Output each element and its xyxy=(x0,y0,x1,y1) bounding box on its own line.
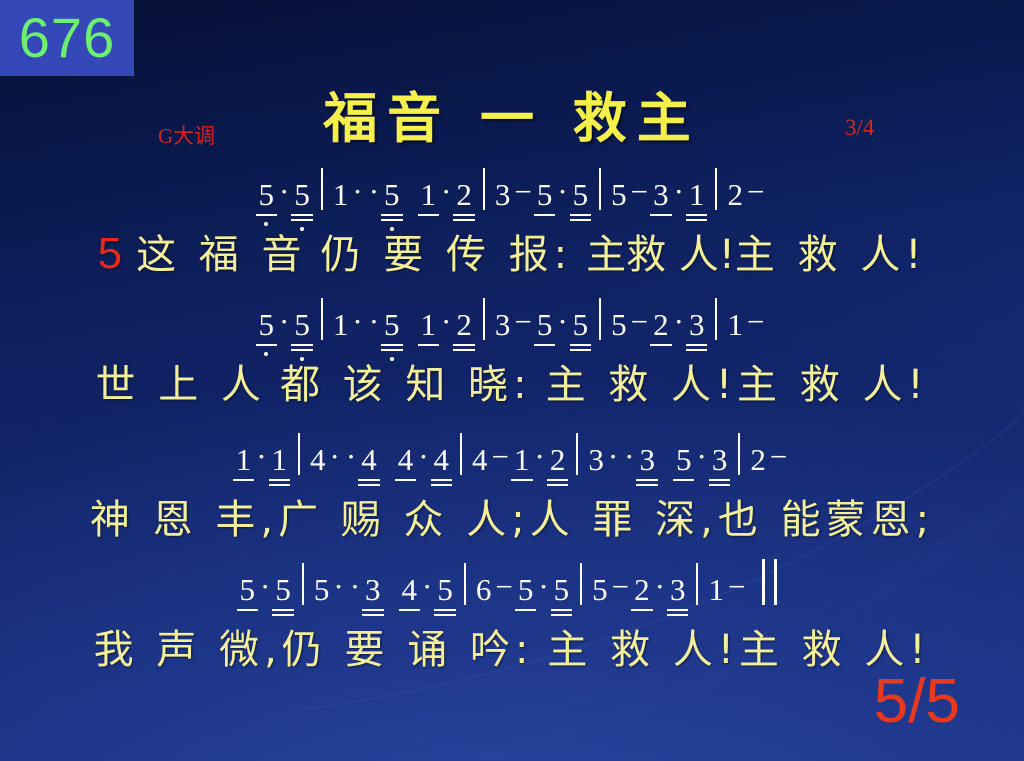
augmentation-dot: · xyxy=(415,439,431,475)
note: 2 xyxy=(651,309,671,340)
sustain-dash: − xyxy=(511,174,534,210)
note: 1 xyxy=(419,179,439,210)
sustain-dash: − xyxy=(492,569,515,605)
stanza-1: 5 · 5 1 · · 5 1 · 2 3 − 5 · 5 5 − 3 · 1 … xyxy=(0,162,1024,280)
note: 2 xyxy=(726,179,744,210)
barline xyxy=(483,298,485,340)
lyrics-line-1: 5 这 福 音 仍 要 传 报: 主救 人! 主 救 人! xyxy=(0,222,1024,280)
time-signature-label: 3/4 xyxy=(845,115,874,141)
note: 3 xyxy=(687,309,707,340)
lyric-segment: 这 福 音 xyxy=(136,222,306,280)
sustain-dash: − xyxy=(628,174,651,210)
barline xyxy=(460,433,462,475)
note: 3 xyxy=(494,179,512,210)
note: 2 xyxy=(548,444,568,475)
note: 1 xyxy=(512,444,532,475)
barline xyxy=(576,433,578,475)
augmentation-dot: · xyxy=(621,439,637,475)
lyric-segment: 仍 要 传 报: xyxy=(321,222,573,280)
note: 1 xyxy=(234,444,254,475)
augmentation-dot: · xyxy=(347,569,363,605)
augmentation-dot: · xyxy=(327,439,343,475)
note: 4 xyxy=(359,444,379,475)
note: 1 xyxy=(726,309,744,340)
augmentation-dot: · xyxy=(535,569,551,605)
barline xyxy=(321,298,323,340)
note: 6 xyxy=(475,574,493,605)
note: 3 xyxy=(494,309,512,340)
final-double-barline xyxy=(762,559,777,605)
lyrics-line-4: 我 声 微, 仍 要 诵 吟: 主 救 人! 主 救 人! xyxy=(0,617,1024,675)
note: 2 xyxy=(454,309,474,340)
note: 4 xyxy=(432,444,452,475)
barline xyxy=(321,168,323,210)
augmentation-dot: · xyxy=(366,304,382,340)
barline xyxy=(738,433,740,475)
stanza-4: 5 · 5 5 · · 3 4 · 5 6 − 5 · 5 5 − 2 · 3 … xyxy=(0,557,1024,675)
augmentation-dot: · xyxy=(253,439,269,475)
lyric-segment: 神 恩 丰, xyxy=(90,487,278,545)
key-signature-label: G大调 xyxy=(158,120,215,150)
augmentation-dot: · xyxy=(652,569,668,605)
barline xyxy=(599,298,601,340)
hymn-number-badge: 676 xyxy=(0,0,134,76)
note: 4 xyxy=(309,444,327,475)
barline xyxy=(483,168,485,210)
note: 5 xyxy=(610,179,628,210)
hymn-slide: 676 福音 一 救主 G大调 3/4 5 · 5 1 · · 5 1 · 2 … xyxy=(0,0,1024,761)
lyric-segment: 主 救 人! xyxy=(735,222,926,280)
note: 1 xyxy=(419,309,439,340)
note: 5 xyxy=(535,309,555,340)
verse-number: 5 xyxy=(98,229,122,279)
augmentation-dot: · xyxy=(330,569,346,605)
augmentation-dot: · xyxy=(419,569,435,605)
augmentation-dot: · xyxy=(438,174,454,210)
notation-line-4: 5 · 5 5 · · 3 4 · 5 6 − 5 · 5 5 − 2 · 3 … xyxy=(0,557,1024,605)
sustain-dash: − xyxy=(767,439,790,475)
note: 1 xyxy=(332,309,350,340)
barline xyxy=(580,563,582,605)
sustain-dash: − xyxy=(489,439,512,475)
note: 5 xyxy=(313,574,331,605)
augmentation-dot: · xyxy=(671,304,687,340)
augmentation-dot: · xyxy=(554,174,570,210)
note: 5 xyxy=(516,574,536,605)
barline xyxy=(715,168,717,210)
note: 5 xyxy=(382,309,402,340)
note: 2 xyxy=(632,574,652,605)
note: 3 xyxy=(637,444,657,475)
augmentation-dot: · xyxy=(276,304,292,340)
augmentation-dot: · xyxy=(349,304,365,340)
sustain-dash: − xyxy=(609,569,632,605)
note: 5 xyxy=(257,179,277,210)
barline xyxy=(696,563,698,605)
note: 4 xyxy=(471,444,489,475)
note: 5 xyxy=(382,179,402,210)
augmentation-dot: · xyxy=(605,439,621,475)
notation-line-1: 5 · 5 1 · · 5 1 · 2 3 − 5 · 5 5 − 3 · 1 … xyxy=(0,162,1024,210)
barline xyxy=(298,433,300,475)
note: 3 xyxy=(651,179,671,210)
lyric-segment: 主 救 人! xyxy=(547,617,738,675)
notation-line-3: 1 · 1 4 · · 4 4 · 4 4 − 1 · 2 3 · · 3 5 … xyxy=(0,427,1024,475)
lyrics-line-2: 世 上 人 都 该 知 晓: 主 救 人! 主 救 人! xyxy=(0,352,1024,410)
stanza-2: 5 · 5 1 · · 5 1 · 2 3 − 5 · 5 5 − 2 · 3 … xyxy=(0,292,1024,410)
note: 5 xyxy=(610,309,628,340)
lyrics-line-3: 神 恩 丰, 广 赐 众 人; 人 罪 深, 也 能蒙恩; xyxy=(0,487,1024,545)
page-title: 福音 一 救主 xyxy=(0,74,1024,153)
note: 1 xyxy=(332,179,350,210)
note: 5 xyxy=(591,574,609,605)
barline xyxy=(464,563,466,605)
hymn-number-text: 676 xyxy=(19,10,115,66)
augmentation-dot: · xyxy=(349,174,365,210)
note: 5 xyxy=(674,444,694,475)
lyric-segment: 人 罪 深, xyxy=(530,487,718,545)
note: 4 xyxy=(396,444,416,475)
augmentation-dot: · xyxy=(343,439,359,475)
barline xyxy=(599,168,601,210)
sustain-dash: − xyxy=(628,304,651,340)
note: 5 xyxy=(571,309,591,340)
sustain-dash: − xyxy=(511,304,534,340)
note: 5 xyxy=(257,309,277,340)
lyric-segment: 都 该 知 晓: xyxy=(280,352,532,410)
note: 3 xyxy=(710,444,730,475)
note: 5 xyxy=(292,309,312,340)
lyric-segment: 我 声 微, xyxy=(94,617,282,675)
note: 3 xyxy=(587,444,605,475)
note: 5 xyxy=(238,574,258,605)
augmentation-dot: · xyxy=(554,304,570,340)
page-counter: 5/5 xyxy=(874,671,960,733)
note: 5 xyxy=(292,179,312,210)
lyric-segment: 世 上 人 xyxy=(96,352,266,410)
notation-line-2: 5 · 5 1 · · 5 1 · 2 3 − 5 · 5 5 − 2 · 3 … xyxy=(0,292,1024,340)
note: 5 xyxy=(435,574,455,605)
augmentation-dot: · xyxy=(671,174,687,210)
lyric-segment: 主 救 人! xyxy=(737,352,928,410)
note: 3 xyxy=(363,574,383,605)
note: 2 xyxy=(749,444,767,475)
augmentation-dot: · xyxy=(366,174,382,210)
augmentation-dot: · xyxy=(532,439,548,475)
lyric-segment: 也 能蒙恩; xyxy=(718,487,934,545)
augmentation-dot: · xyxy=(257,569,273,605)
barline xyxy=(302,563,304,605)
barline xyxy=(715,298,717,340)
lyric-segment: 广 赐 众 人; xyxy=(278,487,530,545)
note: 2 xyxy=(454,179,474,210)
note: 5 xyxy=(552,574,572,605)
note: 5 xyxy=(535,179,555,210)
augmentation-dot: · xyxy=(693,439,709,475)
note: 1 xyxy=(270,444,290,475)
augmentation-dot: · xyxy=(276,174,292,210)
note: 5 xyxy=(571,179,591,210)
lyric-segment: 主 救 人! xyxy=(546,352,737,410)
sustain-dash: − xyxy=(744,174,767,210)
augmentation-dot: · xyxy=(438,304,454,340)
note: 4 xyxy=(400,574,420,605)
sustain-dash: − xyxy=(744,304,767,340)
note: 1 xyxy=(687,179,707,210)
note: 3 xyxy=(668,574,688,605)
sustain-dash: − xyxy=(725,569,748,605)
stanza-3: 1 · 1 4 · · 4 4 · 4 4 − 1 · 2 3 · · 3 5 … xyxy=(0,427,1024,545)
lyric-segment: 仍 要 诵 吟: xyxy=(282,617,534,675)
lyric-segment: 主救 人! xyxy=(586,222,735,280)
note: 5 xyxy=(273,574,293,605)
note: 1 xyxy=(707,574,725,605)
